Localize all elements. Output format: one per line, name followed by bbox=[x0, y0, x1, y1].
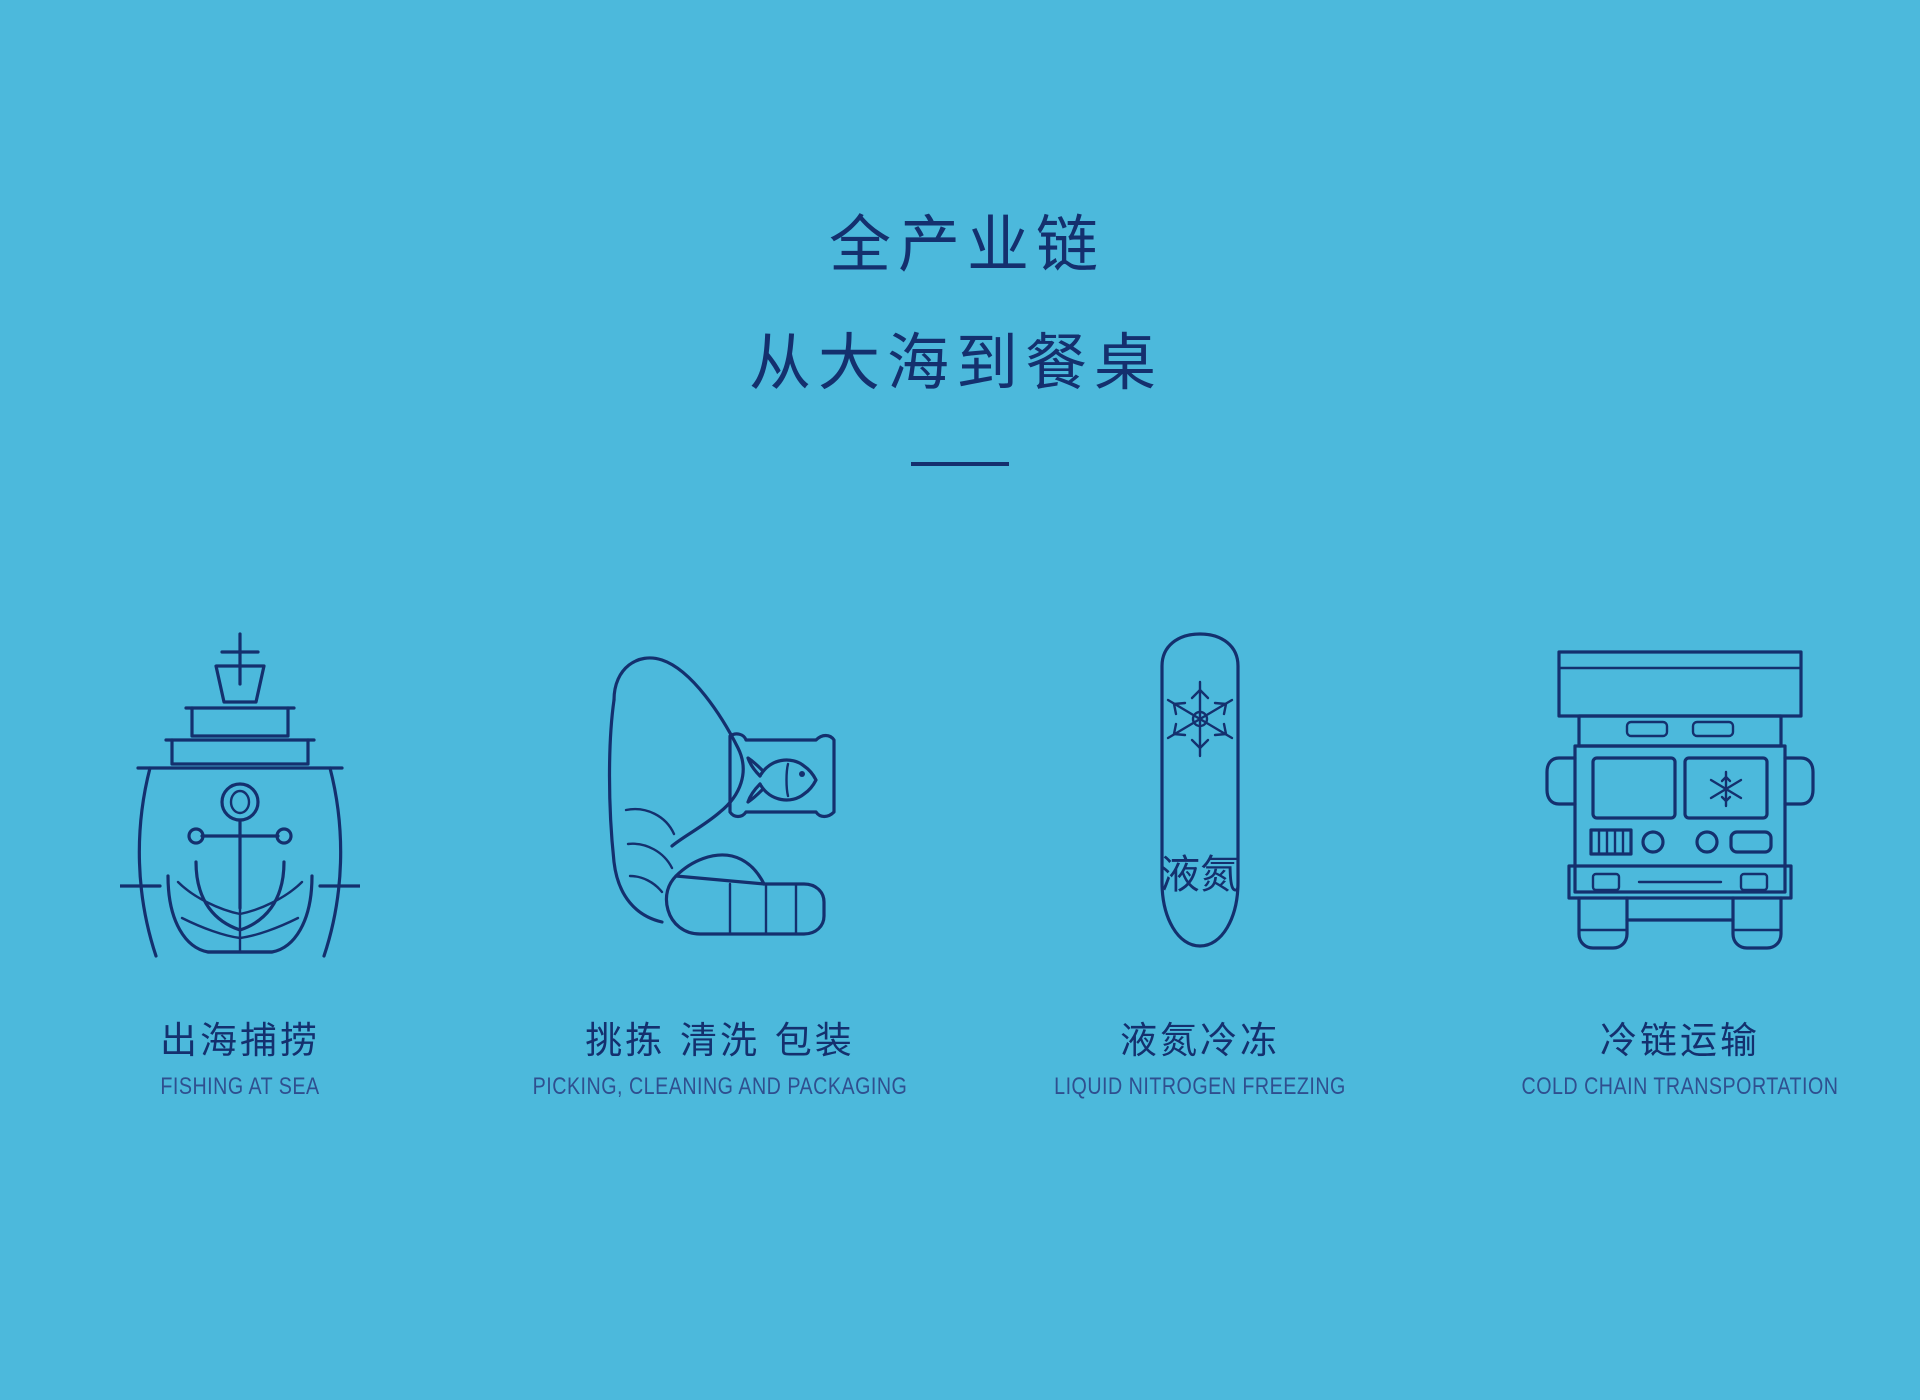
label-cn-1: 出海捕捞 bbox=[0, 1015, 480, 1067]
label-en-3: LIQUID NITROGEN FREEZING bbox=[1003, 1067, 1397, 1107]
label-en-1: FISHING AT SEA bbox=[43, 1067, 437, 1107]
truck-snowflake-icon bbox=[1711, 772, 1741, 806]
cold-chain-truck-icon bbox=[1535, 630, 1825, 960]
label-step-4: 冷链运输 COLD CHAIN TRANSPORTATION bbox=[1440, 1015, 1920, 1145]
liquid-nitrogen-icon-text: 液氮 bbox=[1160, 852, 1240, 898]
page-heading: 全产业链 从大海到餐桌 bbox=[0, 186, 1920, 422]
step-picking-cleaning-packaging bbox=[480, 430, 960, 960]
infographic-page: 全产业链 从大海到餐桌 bbox=[0, 0, 1920, 1400]
label-cn-3: 液氮冷冻 bbox=[960, 1015, 1440, 1067]
label-en-2: PICKING, CLEANING AND PACKAGING bbox=[523, 1067, 917, 1107]
label-cn-2: 挑拣 清洗 包装 bbox=[480, 1015, 960, 1067]
step-liquid-nitrogen-freezing: 液氮 bbox=[960, 430, 1440, 960]
step-fishing-at-sea bbox=[0, 430, 480, 960]
label-en-4: COLD CHAIN TRANSPORTATION bbox=[1483, 1067, 1877, 1107]
hands-fish-package-icon bbox=[580, 630, 860, 960]
heading-line-2: 从大海到餐桌 bbox=[0, 304, 1920, 422]
process-steps: 液氮 bbox=[0, 430, 1920, 960]
label-step-3: 液氮冷冻 LIQUID NITROGEN FREEZING bbox=[960, 1015, 1440, 1145]
icon-wrap-3: 液氮 bbox=[1100, 600, 1300, 960]
heading-line-1: 全产业链 bbox=[14, 186, 1920, 304]
liquid-nitrogen-snowflake-icon: 液氮 bbox=[1100, 630, 1300, 960]
label-step-1: 出海捕捞 FISHING AT SEA bbox=[0, 1015, 480, 1145]
step-labels: 出海捕捞 FISHING AT SEA 挑拣 清洗 包装 PICKING, CL… bbox=[0, 1015, 1920, 1145]
icon-wrap-4 bbox=[1535, 600, 1825, 960]
snowflake-glyph bbox=[1168, 682, 1232, 756]
step-cold-chain-transportation bbox=[1440, 430, 1920, 960]
label-cn-4: 冷链运输 bbox=[1440, 1015, 1920, 1067]
icon-wrap-1 bbox=[120, 600, 360, 960]
fishing-boat-anchor-icon bbox=[120, 630, 360, 960]
icon-wrap-2 bbox=[580, 600, 860, 960]
label-step-2: 挑拣 清洗 包装 PICKING, CLEANING AND PACKAGING bbox=[480, 1015, 960, 1145]
